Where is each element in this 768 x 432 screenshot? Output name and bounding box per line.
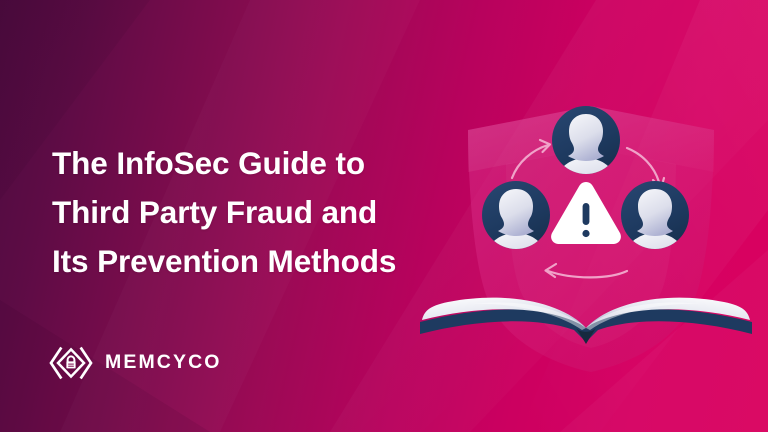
brand-logo[interactable]: MEMCYCO	[48, 346, 222, 380]
chevron-diamond-lock-icon	[48, 346, 94, 380]
brand-wordmark: MEMCYCO	[105, 353, 222, 373]
third-party-fraud-illustration	[414, 52, 768, 382]
blog-banner: The InfoSec Guide to Third Party Fraud a…	[0, 0, 768, 432]
